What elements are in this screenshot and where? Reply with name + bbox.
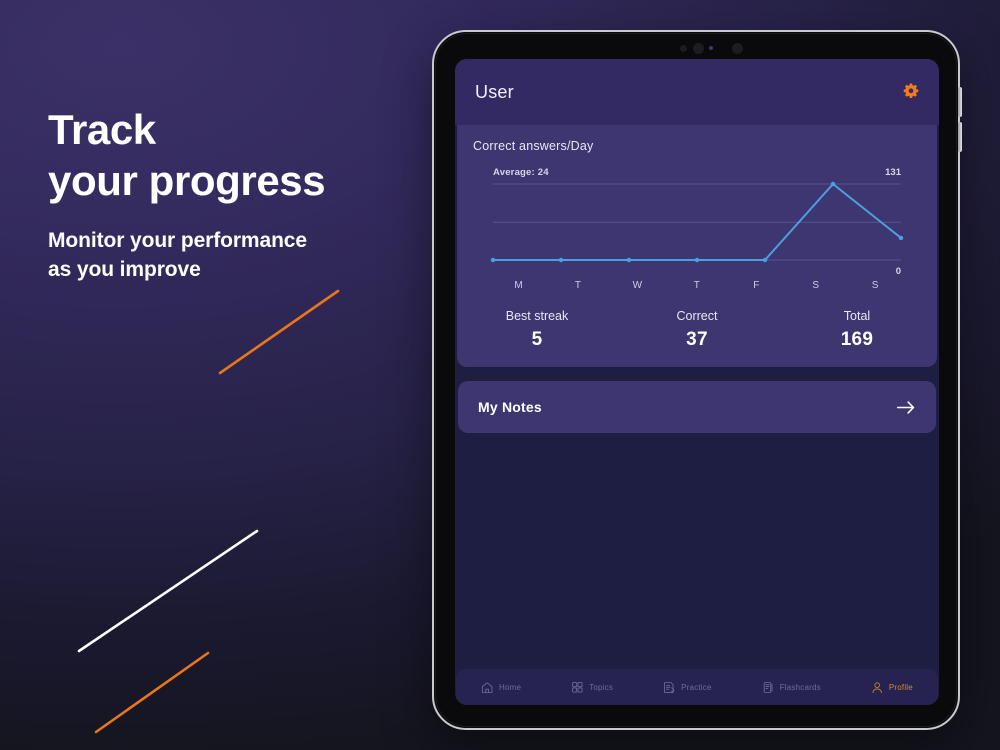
subheadline-line-1: Monitor your performance <box>48 229 307 252</box>
correct-answers-card: Correct answers/Day Average: 24 131 0 MT… <box>457 125 937 367</box>
nav-label: Topics <box>589 683 613 692</box>
chart-average-label: Average: 24 <box>493 167 549 178</box>
card-title: Correct answers/Day <box>457 139 937 153</box>
sensor-dot <box>680 45 687 52</box>
chart-data-point[interactable] <box>695 258 699 262</box>
stat-best-streak: Best streak5 <box>457 309 617 351</box>
nav-item-practice[interactable]: Practice <box>663 681 712 694</box>
settings-button[interactable] <box>901 82 921 102</box>
chart-data-point[interactable] <box>491 258 495 262</box>
stat-value: 169 <box>777 329 937 351</box>
x-axis-tick-3: T <box>667 280 726 291</box>
nav-item-home[interactable]: Home <box>481 681 521 694</box>
gear-icon <box>901 82 921 102</box>
headline-line-1: Track <box>48 106 156 153</box>
white-stroke-middle <box>79 531 257 651</box>
stat-total: Total169 <box>777 309 937 351</box>
nav-label: Home <box>499 683 521 692</box>
stat-label: Correct <box>617 309 777 323</box>
my-notes-label: My Notes <box>478 399 542 415</box>
orange-stroke-bottom <box>96 653 208 732</box>
my-notes-row[interactable]: My Notes <box>458 381 936 433</box>
tablet-device-frame: User Correct answers/Day Average: 24 131 <box>432 30 960 730</box>
front-camera <box>693 43 704 54</box>
nav-label: Practice <box>681 683 712 692</box>
pencil-note-icon <box>663 681 676 694</box>
cards-icon <box>762 681 775 694</box>
volume-up-button[interactable] <box>958 87 962 117</box>
headline-line-2: your progress <box>48 157 325 204</box>
chart-data-point[interactable] <box>763 258 767 262</box>
arrow-right-icon <box>896 400 916 415</box>
chart-container: Average: 24 131 0 MTWTFSS <box>457 167 937 291</box>
x-axis-tick-6: S <box>846 280 905 291</box>
x-axis-tick-4: F <box>727 280 786 291</box>
nav-label: Profile <box>889 683 913 692</box>
app-content: Correct answers/Day Average: 24 131 0 MT… <box>455 125 939 669</box>
nav-label: Flashcards <box>780 683 821 692</box>
marketing-copy: Track your progress Monitor your perform… <box>48 104 428 284</box>
chart-data-point[interactable] <box>627 258 631 262</box>
stat-value: 5 <box>457 329 617 351</box>
line-chart[interactable] <box>493 184 901 260</box>
stat-label: Total <box>777 309 937 323</box>
nav-item-profile[interactable]: Profile <box>871 681 913 694</box>
volume-down-button[interactable] <box>958 122 962 152</box>
bottom-navigation: HomeTopicsPracticeFlashcardsProfile <box>456 669 938 705</box>
stats-row: Best streak5Correct37Total169 <box>457 309 937 351</box>
chart-data-point[interactable] <box>559 258 563 262</box>
tablet-screen: User Correct answers/Day Average: 24 131 <box>455 59 939 705</box>
indicator-dot <box>709 46 713 50</box>
chart-ymin-label: 0 <box>896 266 901 277</box>
orange-stroke-top <box>220 291 338 373</box>
chart-data-point[interactable] <box>831 182 835 186</box>
chart-data-point[interactable] <box>899 236 903 240</box>
stat-value: 37 <box>617 329 777 351</box>
x-axis-tick-0: M <box>489 280 548 291</box>
chart-plot-area: 0 <box>493 184 901 260</box>
person-icon <box>871 681 884 694</box>
page-title: User <box>475 82 514 103</box>
ambient-sensor <box>732 43 743 54</box>
app-header: User <box>455 59 939 125</box>
chart-x-axis: MTWTFSS <box>481 280 913 291</box>
chart-ymax-label: 131 <box>885 167 901 178</box>
stat-correct: Correct37 <box>617 309 777 351</box>
x-axis-tick-2: W <box>608 280 667 291</box>
nav-item-flashcards[interactable]: Flashcards <box>762 681 821 694</box>
x-axis-tick-1: T <box>548 280 607 291</box>
marketing-headline: Track your progress <box>48 104 428 206</box>
marketing-subheadline: Monitor your performance as you improve <box>48 226 428 284</box>
home-icon <box>481 681 494 694</box>
grid-icon <box>571 681 584 694</box>
nav-item-topics[interactable]: Topics <box>571 681 613 694</box>
stat-label: Best streak <box>457 309 617 323</box>
x-axis-tick-5: S <box>786 280 845 291</box>
subheadline-line-2: as you improve <box>48 258 201 281</box>
